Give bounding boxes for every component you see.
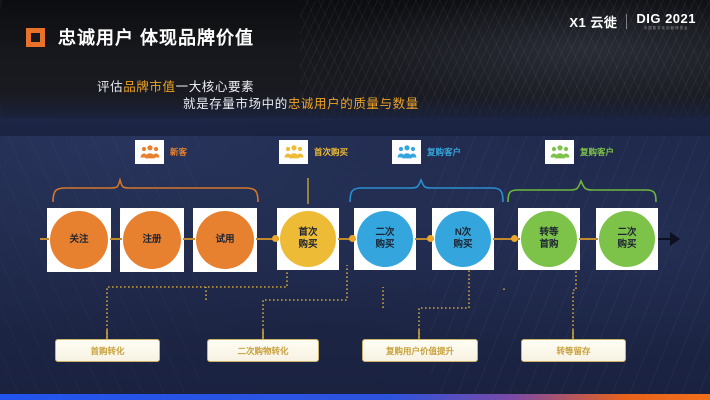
subtitle-1-highlight: 品牌市值 <box>123 80 175 94</box>
stage-node-2[interactable]: 试用 <box>193 208 257 272</box>
logo-divider <box>626 14 627 29</box>
stage-node-7[interactable]: 二次 购买 <box>596 208 658 270</box>
flow-dot-4-5 <box>427 235 434 242</box>
stage-disc-5: N次 购买 <box>435 211 491 267</box>
stage-node-5[interactable]: N次 购买 <box>432 208 494 270</box>
flow-arrow-end-icon <box>670 232 680 246</box>
logo-dig2021: DIG 2021 中国数字化创新博览会 <box>636 12 696 30</box>
persona-chip-1[interactable]: 首次购买 <box>279 140 348 164</box>
logo-dig2021-sub: 中国数字化创新博览会 <box>644 27 689 30</box>
stage-label-6-line2: 首购 <box>539 239 558 251</box>
people-group-icon <box>135 140 164 164</box>
flow-dot-3-4 <box>349 235 356 242</box>
logo-dig2021-text: DIG 2021 <box>636 12 696 25</box>
stage-node-4[interactable]: 二次 购买 <box>354 208 416 270</box>
logo-yuntu: X1 云徙 <box>569 12 617 31</box>
stage-node-3[interactable]: 首次 购买 <box>277 208 339 270</box>
stage-label-1-line1: 注册 <box>142 234 161 246</box>
stage-label-6-line1: 转等 <box>539 227 558 239</box>
persona-label-3: 复购客户 <box>580 146 614 158</box>
outcome-card-label-1: 二次购物转化 <box>237 345 288 357</box>
flow-dot-2-3 <box>272 235 279 242</box>
stage-disc-0: 关注 <box>50 211 108 269</box>
outcome-card-label-2: 复购用户价值提升 <box>386 345 454 357</box>
flow-connector-6-7 <box>579 238 598 240</box>
subtitle-1-plain: 评估 <box>97 80 123 94</box>
stage-node-6[interactable]: 转等 首购 <box>518 208 580 270</box>
persona-label-0: 新客 <box>170 146 187 158</box>
page-title: 忠诚用户 体现品牌价值 <box>26 24 254 50</box>
stage-label-2-line1: 试用 <box>215 234 234 246</box>
people-group-icon <box>545 140 574 164</box>
flow-connector-0-1 <box>110 238 122 240</box>
outcome-card-3[interactable]: 转等留存 <box>521 339 626 362</box>
stage-label-7-line1: 二次 <box>617 227 636 239</box>
people-group-icon <box>392 140 421 164</box>
flow-dot-5-6 <box>511 235 518 242</box>
subtitle-1-tail: 一大核心要素 <box>176 80 255 94</box>
stage-label-5-line1: N次 <box>455 227 471 239</box>
subtitle-2-plain: 就是存量市场中的 <box>183 97 288 111</box>
subtitle-2-highlight: 忠诚用户的质量与数量 <box>288 97 419 111</box>
persona-chip-0[interactable]: 新客 <box>135 140 187 164</box>
stage-disc-3: 首次 购买 <box>280 211 336 267</box>
title-text: 忠诚用户 体现品牌价值 <box>58 24 254 50</box>
title-square-icon <box>26 28 45 47</box>
stage-label-0-line1: 关注 <box>69 234 88 246</box>
persona-label-1: 首次购买 <box>314 146 348 158</box>
stage-disc-6: 转等 首购 <box>521 211 577 267</box>
persona-chip-2[interactable]: 复购客户 <box>392 140 461 164</box>
people-group-icon <box>279 140 308 164</box>
stage-disc-7: 二次 购买 <box>599 211 655 267</box>
subtitle-line-2: 就是存量市场中的忠诚用户的质量与数量 <box>183 93 419 112</box>
stage-label-3-line2: 购买 <box>298 239 317 251</box>
bottom-accent-bar <box>0 394 710 400</box>
stage-disc-2: 试用 <box>196 211 254 269</box>
brand-logos: X1 云徙 DIG 2021 中国数字化创新博览会 <box>569 12 696 31</box>
stage-node-0[interactable]: 关注 <box>47 208 111 272</box>
outcome-card-1[interactable]: 二次购物转化 <box>207 339 319 362</box>
slide-canvas: 忠诚用户 体现品牌价值 评估品牌市值一大核心要素 就是存量市场中的忠诚用户的质量… <box>0 0 710 400</box>
stage-disc-4: 二次 购买 <box>357 211 413 267</box>
stage-label-7-line2: 购买 <box>617 239 636 251</box>
outcome-card-0[interactable]: 首购转化 <box>55 339 160 362</box>
outcome-card-label-0: 首购转化 <box>90 345 124 357</box>
stage-label-4-line2: 购买 <box>375 239 394 251</box>
stage-disc-1: 注册 <box>123 211 181 269</box>
stage-label-5-line2: 购买 <box>453 239 472 251</box>
persona-label-2: 复购客户 <box>427 146 461 158</box>
flow-connector-start <box>40 238 49 240</box>
stage-node-1[interactable]: 注册 <box>120 208 184 272</box>
stage-label-4-line1: 二次 <box>375 227 394 239</box>
flow-arrow-tail <box>658 238 670 240</box>
persona-chip-3[interactable]: 复购客户 <box>545 140 614 164</box>
flow-connector-1-2 <box>183 238 195 240</box>
outcome-card-2[interactable]: 复购用户价值提升 <box>362 339 478 362</box>
outcome-card-label-3: 转等留存 <box>556 345 590 357</box>
stage-label-3-line1: 首次 <box>298 227 317 239</box>
